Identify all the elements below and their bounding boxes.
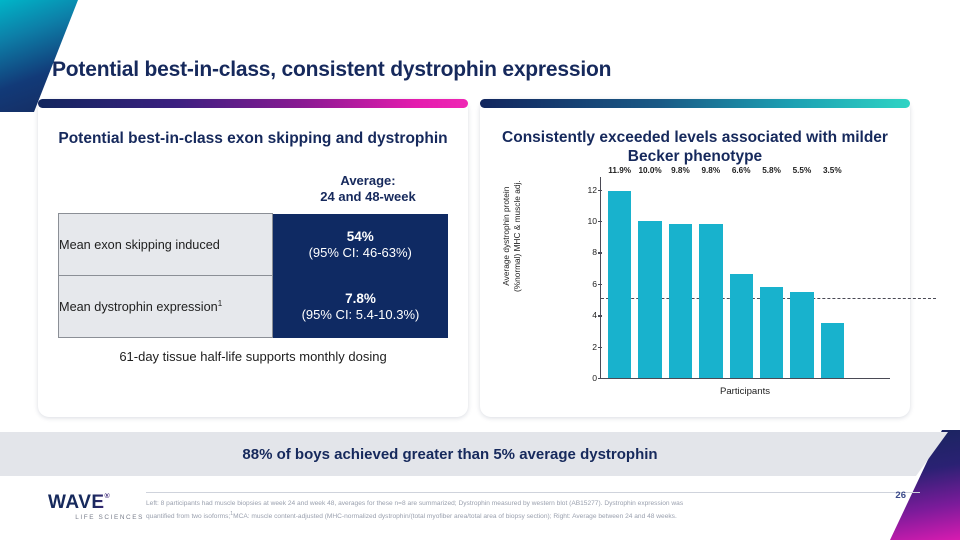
page-title: Potential best-in-class, consistent dyst…: [52, 58, 611, 82]
chart-bar-group: 5.8%: [760, 177, 783, 378]
table-row: Mean dystrophin expression1 7.8% (95% CI…: [59, 276, 448, 338]
chart-bar-group: 5.5%: [790, 177, 813, 378]
card-accent-bar-right: [480, 99, 910, 108]
row-value-dystrophin-expression: 7.8% (95% CI: 5.4-10.3%): [273, 276, 448, 338]
card-accent-bar-left: [38, 99, 468, 108]
footnote-text: Left: 8 participants had muscle biopsies…: [146, 499, 856, 523]
row-label-text: Mean exon skipping induced: [59, 238, 220, 252]
chart-y-axis-label-line2: (%normal) MHC & muscle adj.: [512, 146, 523, 326]
chart-bar: 5.8%: [760, 287, 783, 378]
chart-bar-value-label: 11.9%: [608, 166, 631, 175]
summary-banner-text: 88% of boys achieved greater than 5% ave…: [0, 432, 900, 476]
chart-y-tick: 4: [592, 310, 601, 320]
footnote-line-2-pre: quantified from two isoforms;: [146, 513, 230, 520]
chart-bar-value-label: 6.6%: [732, 166, 751, 175]
corner-accent-top-left: [0, 0, 92, 112]
row-label-dystrophin-expression: Mean dystrophin expression1: [59, 276, 273, 338]
table-column-header: Average: 24 and 48-week: [273, 173, 463, 204]
logo-registered-mark: ®: [105, 493, 111, 500]
card-left-title: Potential best-in-class exon skipping an…: [38, 130, 468, 149]
row-value-ci: (95% CI: 5.4-10.3%): [273, 307, 447, 324]
chart-y-tick: 8: [592, 247, 601, 257]
chart-bar-group: 9.8%: [669, 177, 692, 378]
row-label-exon-skipping: Mean exon skipping induced: [59, 214, 273, 276]
chart-bar: 11.9%: [608, 191, 631, 378]
chart-bar: 9.8%: [699, 224, 722, 378]
chart-y-tick: 0: [592, 373, 601, 383]
results-table: Mean exon skipping induced 54% (95% CI: …: [58, 213, 448, 338]
chart-bar: 3.5%: [821, 323, 844, 378]
chart-bar-group: 9.8%: [699, 177, 722, 378]
footnote-line-2: quantified from two isoforms;1MCA: muscl…: [146, 510, 856, 523]
row-value-main: 7.8%: [273, 290, 447, 307]
card-exon-skipping: Potential best-in-class exon skipping an…: [38, 99, 468, 417]
footer-divider: [146, 492, 920, 493]
chart-y-tick: 6: [592, 279, 601, 289]
row-label-footnote-marker: 1: [218, 299, 222, 308]
table-column-header-line1: Average:: [273, 173, 463, 189]
chart-bar: 5.5%: [790, 292, 813, 378]
chart-plot-area: 024681012 11.9%10.0%9.8%9.8%6.6%5.8%5.5%…: [600, 177, 890, 379]
card-dystrophin-chart: Consistently exceeded levels associated …: [480, 99, 910, 417]
chart-bar-value-label: 10.0%: [638, 166, 661, 175]
chart-bar-value-label: 5.8%: [762, 166, 781, 175]
chart-y-tick: 2: [592, 342, 601, 352]
chart-bar: 6.6%: [730, 274, 753, 378]
bar-chart: Average dystrophin protein (%normal) MHC…: [488, 169, 902, 407]
footnote-line-2-post: MCA: muscle content-adjusted (MHC-normal…: [233, 513, 677, 520]
table-column-header-line2: 24 and 48-week: [273, 189, 463, 205]
row-value-main: 54%: [273, 228, 447, 245]
table-row: Mean exon skipping induced 54% (95% CI: …: [59, 214, 448, 276]
chart-y-tick: 12: [587, 185, 601, 195]
chart-bar-value-label: 9.8%: [701, 166, 720, 175]
row-value-ci: (95% CI: 46-63%): [273, 245, 447, 262]
chart-bar-group: 11.9%: [608, 177, 631, 378]
footnote-line-1: Left: 8 participants had muscle biopsies…: [146, 499, 856, 510]
chart-bar-value-label: 3.5%: [823, 166, 842, 175]
logo-word-text: WAVE: [48, 492, 105, 513]
chart-bar-group: 3.5%: [821, 177, 844, 378]
half-life-note: 61-day tissue half-life supports monthly…: [38, 349, 468, 364]
row-value-exon-skipping: 54% (95% CI: 46-63%): [273, 214, 448, 276]
summary-banner: 88% of boys achieved greater than 5% ave…: [0, 432, 948, 476]
logo-wordmark: WAVE®: [48, 493, 144, 512]
chart-bar: 9.8%: [669, 224, 692, 378]
chart-y-axis-label: Average dystrophin protein (%normal) MHC…: [501, 146, 523, 326]
chart-y-axis-label-line1: Average dystrophin protein: [501, 146, 512, 326]
chart-bar: 10.0%: [638, 221, 661, 378]
chart-x-axis-label: Participants: [600, 386, 890, 397]
card-right-title: Consistently exceeded levels associated …: [480, 129, 910, 167]
chart-y-tick: 10: [587, 216, 601, 226]
logo-tagline: LIFE SCIENCES: [48, 514, 144, 521]
chart-bar-group: 10.0%: [638, 177, 661, 378]
wave-life-sciences-logo: WAVE® LIFE SCIENCES: [48, 493, 144, 521]
chart-bars: 11.9%10.0%9.8%9.8%6.6%5.8%5.5%3.5%: [601, 177, 890, 378]
chart-bar-value-label: 5.5%: [793, 166, 812, 175]
page-number: 26: [895, 490, 906, 501]
chart-bar-group: 6.6%: [730, 177, 753, 378]
row-label-text: Mean dystrophin expression: [59, 300, 218, 314]
chart-bar-value-label: 9.8%: [671, 166, 690, 175]
